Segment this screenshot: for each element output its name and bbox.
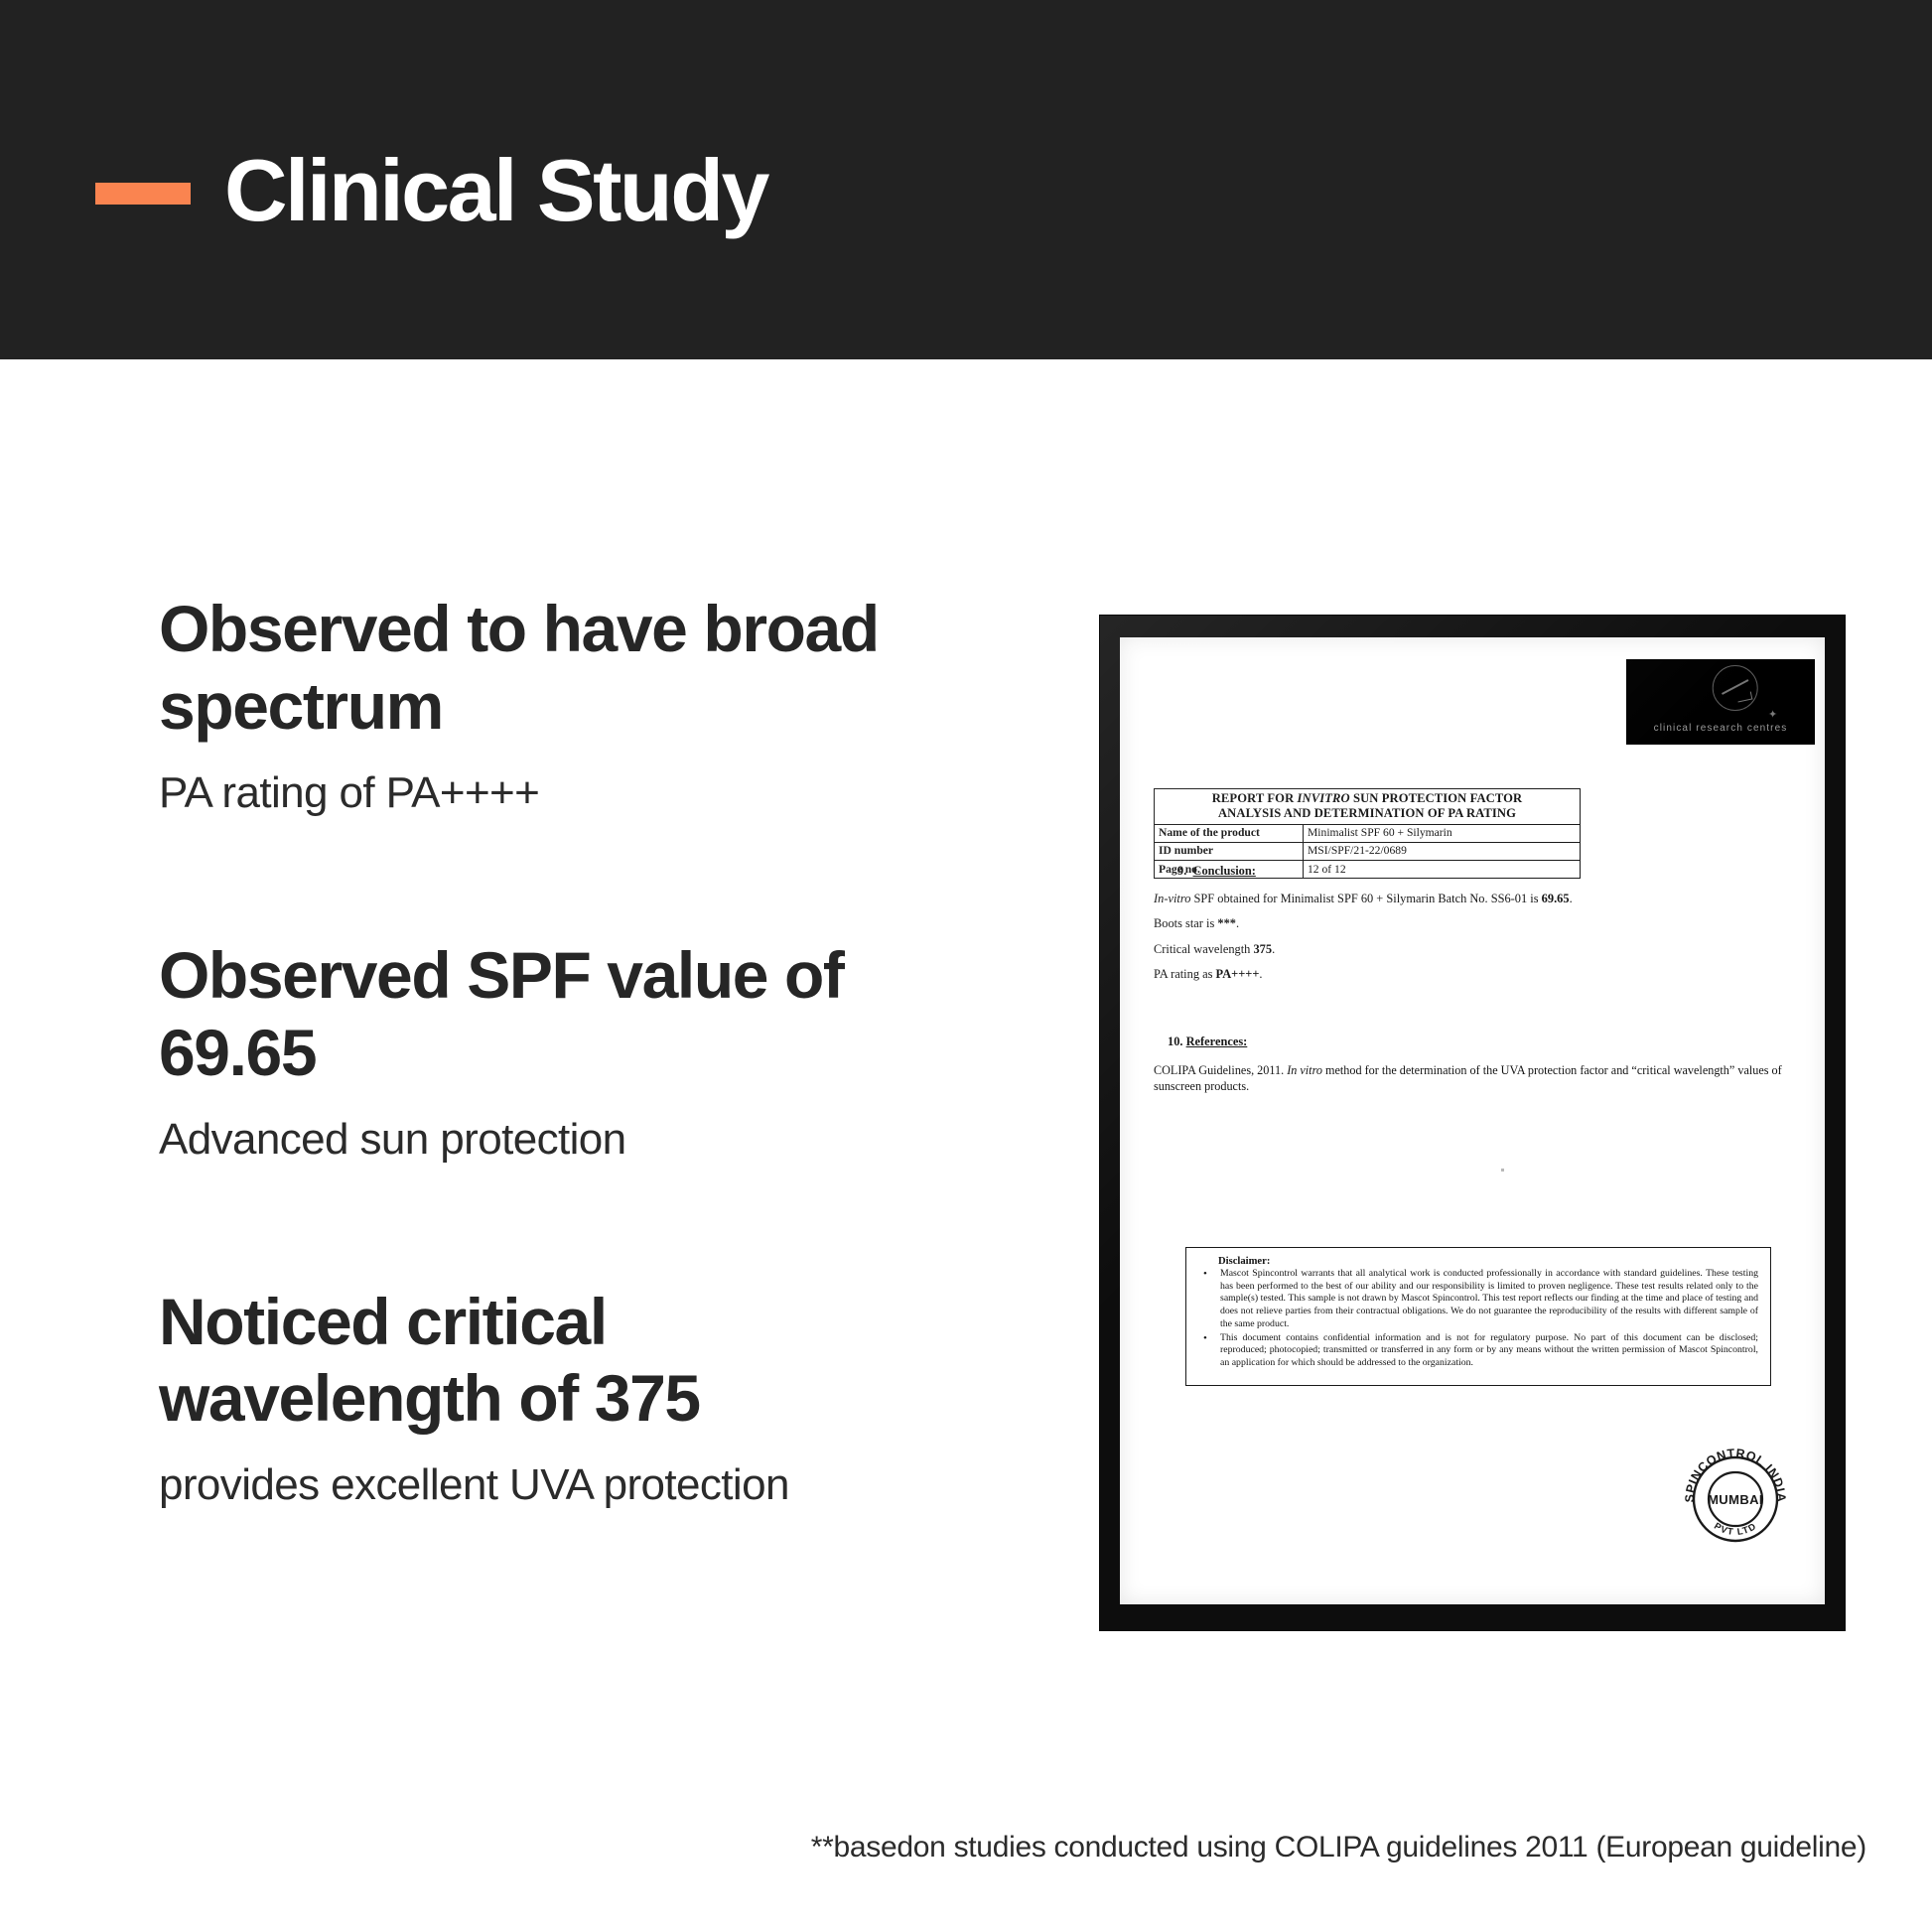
- claim-subline: PA rating of PA++++: [159, 765, 943, 820]
- circular-emblem-icon: [1713, 665, 1758, 711]
- claim-item: Observed SPF value of 69.65 Advanced sun…: [159, 937, 943, 1167]
- svg-text:MUMBAI: MUMBAI: [1708, 1492, 1763, 1507]
- title-pre: REPORT FOR: [1212, 791, 1298, 805]
- boots-value: ***: [1217, 916, 1236, 930]
- wavelength-value: 375: [1253, 942, 1272, 956]
- claim-subline: provides excellent UVA protection: [159, 1457, 943, 1512]
- list-item: This document contains confidential info…: [1196, 1332, 1758, 1370]
- table-row: Name of the product Minimalist SPF 60 + …: [1155, 824, 1581, 842]
- clinical-study-slide: Clinical Study Observed to have broad sp…: [0, 0, 1932, 1932]
- spf-text: SPF obtained for Minimalist SPF 60 + Sil…: [1190, 892, 1541, 905]
- svg-text:PVT LTD: PVT LTD: [1712, 1521, 1758, 1538]
- references-heading: 10. References:: [1168, 1035, 1247, 1049]
- table-row: REPORT FOR INVITRO SUN PROTECTION FACTOR…: [1155, 789, 1581, 825]
- disclaimer-box: Disclaimer: Mascot Spincontrol warrants …: [1185, 1247, 1771, 1386]
- claim-headline: Observed to have broad spectrum: [159, 591, 943, 746]
- spf-period: .: [1570, 892, 1573, 905]
- row-value: Minimalist SPF 60 + Silymarin: [1304, 824, 1581, 842]
- spf-value: 69.65: [1542, 892, 1570, 905]
- paper-speck: [1501, 1169, 1504, 1172]
- title-italic: INVITRO: [1298, 791, 1350, 805]
- row-value: 12 of 12: [1304, 861, 1581, 879]
- report-page: ✦ clinical research centres REPORT FOR I…: [1120, 637, 1825, 1604]
- disclaimer-title: Disclaimer:: [1218, 1256, 1758, 1267]
- claim-headline: Noticed critical wavelength of 375: [159, 1284, 943, 1439]
- approval-stamp: SPINCONTROL INDIA PVT LTD MUMBAI: [1680, 1442, 1791, 1553]
- pa-value: PA++++: [1216, 967, 1260, 981]
- title-post: SUN PROTECTION FACTOR: [1350, 791, 1523, 805]
- claims-list: Observed to have broad spectrum PA ratin…: [159, 591, 943, 1512]
- title-line-2: ANALYSIS AND DETERMINATION OF PA RATING: [1218, 806, 1516, 820]
- section-label: References:: [1186, 1035, 1248, 1048]
- row-label: Name of the product: [1155, 824, 1304, 842]
- boots-period: .: [1236, 916, 1239, 930]
- report-table-title: REPORT FOR INVITRO SUN PROTECTION FACTOR…: [1155, 789, 1581, 825]
- pa-text: PA rating as: [1154, 967, 1216, 981]
- document-frame: ✦ clinical research centres REPORT FOR I…: [1100, 616, 1845, 1630]
- section-label: Conclusion:: [1193, 864, 1256, 878]
- lab-logo-tagline: clinical research centres: [1626, 723, 1815, 734]
- list-item: Mascot Spincontrol warrants that all ana…: [1196, 1268, 1758, 1331]
- wavelength-text: Critical wavelength: [1154, 942, 1253, 956]
- wavelength-period: .: [1272, 942, 1275, 956]
- section-number: 9.: [1177, 864, 1186, 878]
- claim-subline: Advanced sun protection: [159, 1112, 943, 1167]
- pa-period: .: [1259, 967, 1262, 981]
- conclusion-heading: 9. Conclusion:: [1177, 864, 1256, 879]
- ref-italic: In vitro: [1287, 1063, 1322, 1077]
- footnote-text: **basedon studies conducted using COLIPA…: [811, 1831, 1866, 1864]
- conclusion-body: In-vitro SPF obtained for Minimalist SPF…: [1154, 893, 1809, 994]
- boots-text: Boots star is: [1154, 916, 1217, 930]
- page-title: Clinical Study: [224, 147, 767, 234]
- sparkle-icon: ✦: [1768, 711, 1777, 720]
- row-value: MSI/SPF/21-22/0689: [1304, 842, 1581, 860]
- header-bar: Clinical Study: [0, 0, 1932, 359]
- accent-bar-icon: [95, 183, 191, 205]
- references-body: COLIPA Guidelines, 2011. In vitro method…: [1154, 1062, 1797, 1094]
- conclusion-line-wavelength: Critical wavelength 375.: [1154, 943, 1809, 956]
- lab-logo: ✦ clinical research centres: [1626, 659, 1815, 745]
- table-row: ID number MSI/SPF/21-22/0689: [1155, 842, 1581, 860]
- ref-pre: COLIPA Guidelines, 2011.: [1154, 1063, 1287, 1077]
- header-content: Clinical Study: [95, 147, 767, 234]
- row-label: ID number: [1155, 842, 1304, 860]
- claim-item: Observed to have broad spectrum PA ratin…: [159, 591, 943, 820]
- invitro-italic: In-vitro: [1154, 892, 1190, 905]
- claim-headline: Observed SPF value of 69.65: [159, 937, 943, 1092]
- disclaimer-items: Mascot Spincontrol warrants that all ana…: [1196, 1268, 1758, 1370]
- conclusion-line-pa: PA rating as PA++++.: [1154, 968, 1809, 981]
- claim-item: Noticed critical wavelength of 375 provi…: [159, 1284, 943, 1513]
- section-number: 10.: [1168, 1035, 1183, 1048]
- conclusion-line-spf: In-vitro SPF obtained for Minimalist SPF…: [1154, 893, 1809, 905]
- conclusion-line-boots: Boots star is ***.: [1154, 917, 1809, 930]
